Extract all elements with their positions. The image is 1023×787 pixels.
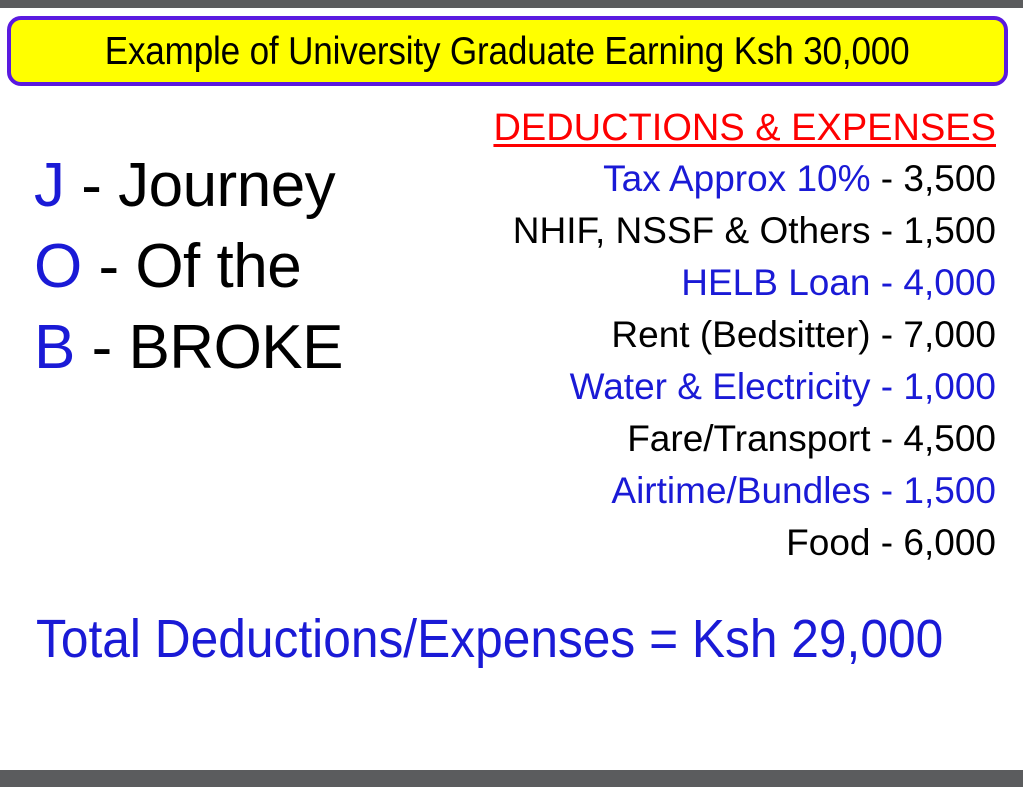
total-deductions-line: Total Deductions/Expenses = Ksh 29,000 <box>36 608 943 670</box>
deduction-amount: 3,500 <box>903 158 996 199</box>
deduction-separator: - <box>871 158 904 199</box>
deduction-label: Fare/Transport <box>627 418 870 459</box>
deduction-row-fare-transport: Fare/Transport - 4,500 <box>443 413 996 465</box>
deduction-label: Water & Electricity <box>570 366 871 407</box>
acronym-initial-b: B <box>34 313 75 382</box>
acronym-line-broke: B - BROKE <box>34 307 434 388</box>
deduction-label: Rent (Bedsitter) <box>611 314 870 355</box>
acronym-initial-j: J <box>34 151 65 220</box>
deduction-row-tax: Tax Approx 10% - 3,500 <box>443 153 996 205</box>
acronym-text-broke: - BROKE <box>75 313 343 382</box>
deduction-separator: - <box>871 522 904 563</box>
acronym-text-of-the: - Of the <box>82 232 301 301</box>
deductions-heading: DEDUCTIONS & EXPENSES <box>443 103 996 153</box>
deduction-separator: - <box>871 470 904 511</box>
title-banner: Example of University Graduate Earning K… <box>7 16 1008 86</box>
deduction-label: HELB Loan <box>681 262 870 303</box>
top-chrome-bar <box>0 0 1023 8</box>
deduction-amount: 4,000 <box>903 262 996 303</box>
deduction-separator: - <box>871 418 904 459</box>
deduction-row-food: Food - 6,000 <box>443 517 996 569</box>
acronym-text-journey: - Journey <box>65 151 336 220</box>
bottom-chrome-bar <box>0 770 1023 787</box>
acronym-line-journey: J - Journey <box>34 145 434 226</box>
deduction-separator: - <box>871 314 904 355</box>
slide-canvas: Example of University Graduate Earning K… <box>0 0 1023 787</box>
deduction-separator: - <box>871 366 904 407</box>
deduction-row-helb-loan: HELB Loan - 4,000 <box>443 257 996 309</box>
deduction-amount: 7,000 <box>903 314 996 355</box>
deduction-label: Airtime/Bundles <box>611 470 870 511</box>
deduction-row-water-electricity: Water & Electricity - 1,000 <box>443 361 996 413</box>
deduction-label: Tax Approx 10% <box>603 158 870 199</box>
deduction-amount: 4,500 <box>903 418 996 459</box>
acronym-initial-o: O <box>34 232 82 301</box>
page-title: Example of University Graduate Earning K… <box>105 32 910 71</box>
deduction-row-nhif-nssf: NHIF, NSSF & Others - 1,500 <box>443 205 996 257</box>
job-acronym-block: J - Journey O - Of the B - BROKE <box>34 145 434 388</box>
deduction-row-rent: Rent (Bedsitter) - 7,000 <box>443 309 996 361</box>
deduction-label: Food <box>786 522 870 563</box>
deduction-amount: 1,000 <box>903 366 996 407</box>
deduction-separator: - <box>871 210 904 251</box>
deduction-separator: - <box>871 262 904 303</box>
deductions-block: DEDUCTIONS & EXPENSES Tax Approx 10% - 3… <box>443 103 996 569</box>
deduction-label: NHIF, NSSF & Others <box>513 210 871 251</box>
acronym-line-of-the: O - Of the <box>34 226 434 307</box>
deduction-amount: 1,500 <box>903 210 996 251</box>
deduction-row-airtime-bundles: Airtime/Bundles - 1,500 <box>443 465 996 517</box>
deduction-amount: 1,500 <box>903 470 996 511</box>
deduction-amount: 6,000 <box>903 522 996 563</box>
